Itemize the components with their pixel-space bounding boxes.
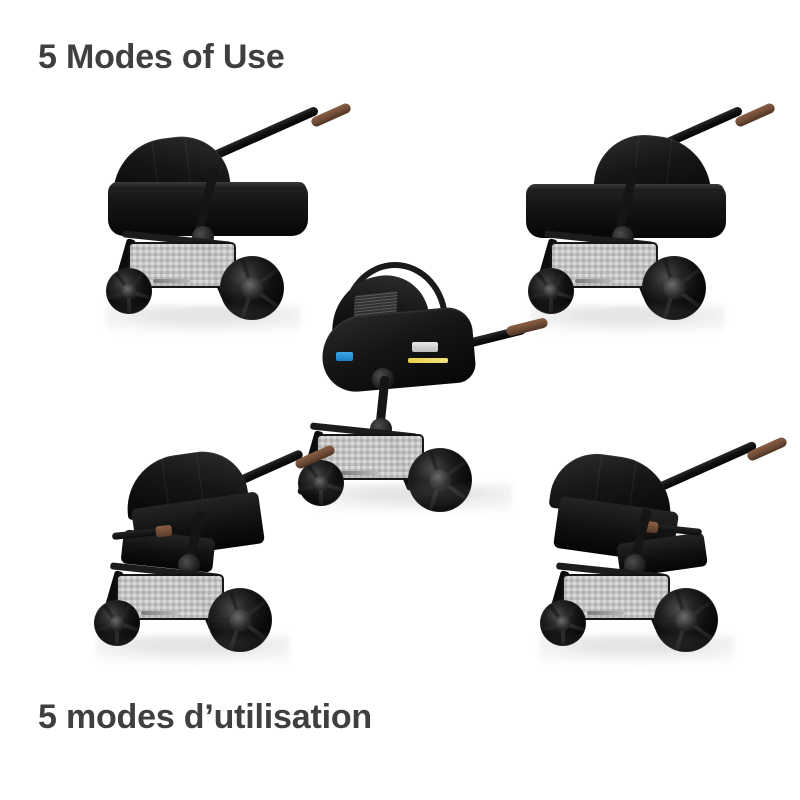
reflective-strip	[153, 279, 190, 283]
mode-toddler-seat-world-facing	[78, 438, 308, 653]
mode-bassinet-world-facing	[512, 108, 742, 323]
stroller-illustration	[522, 438, 752, 653]
floor-reflection	[96, 635, 290, 669]
bumper-leather-tab	[155, 525, 172, 538]
reflective-strip	[141, 611, 178, 615]
warning-label-blue	[336, 352, 353, 361]
page-title-english: 5 Modes of Use	[38, 38, 285, 77]
handle-grip-leather	[746, 436, 788, 462]
handle-grip-leather	[310, 102, 352, 128]
floor-reflection	[530, 305, 724, 339]
belt-path-label-yellow	[408, 358, 448, 363]
reflective-strip	[575, 279, 612, 283]
stroller-illustration	[512, 108, 742, 323]
floor-reflection	[540, 635, 734, 669]
mode-bassinet-parent-facing	[88, 108, 318, 323]
mode-infant-car-seat	[300, 250, 530, 500]
stroller-illustration	[78, 438, 308, 653]
floor-reflection	[318, 484, 512, 518]
product-image-canvas: 5 Modes of Use	[0, 0, 800, 800]
info-label-white	[412, 342, 438, 352]
stroller-illustration	[300, 250, 530, 500]
mode-toddler-seat-parent-facing	[522, 438, 752, 653]
reflective-strip	[341, 471, 378, 475]
stroller-illustration	[88, 108, 318, 323]
handlebar	[206, 106, 319, 163]
handle-grip-leather	[734, 102, 776, 128]
reflective-strip	[587, 611, 624, 615]
page-title-french: 5 modes d’utilisation	[38, 698, 372, 737]
floor-reflection	[106, 305, 300, 339]
